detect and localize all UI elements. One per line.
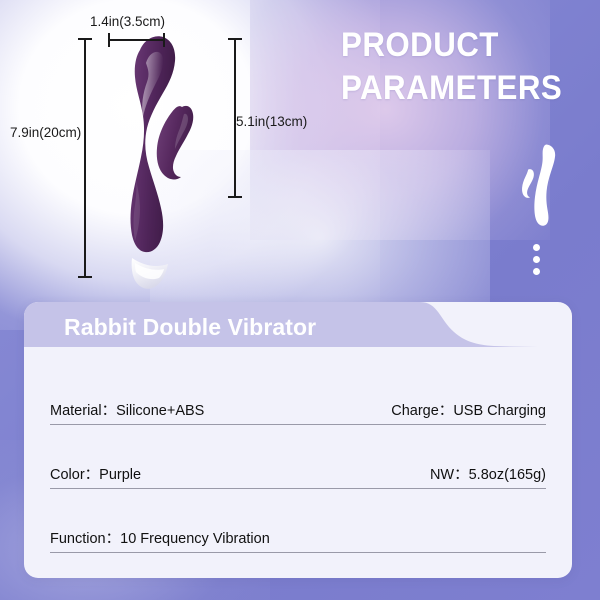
page-title-line-2: PARAMETERS: [341, 67, 571, 110]
specification-card: Rabbit Double Vibrator Material：Silicone…: [24, 302, 572, 578]
spec-row: Material：Silicone+ABS Charge：USB Chargin…: [50, 374, 546, 438]
spec-cell-net-weight: NW：5.8oz(165g): [430, 463, 546, 484]
dot: [533, 268, 540, 275]
dot: [533, 256, 540, 263]
product-image: [96, 30, 226, 300]
spec-row: Function：10 Frequency Vibration: [50, 502, 546, 566]
spec-value: USB Charging: [453, 403, 546, 419]
spec-label: Charge：: [391, 403, 453, 419]
spec-label: Material：: [50, 403, 116, 419]
width-dimension-line: [108, 39, 165, 41]
page-title: PRODUCT PARAMETERS: [341, 24, 571, 110]
spec-label: NW：: [430, 467, 469, 483]
width-dimension-label: 1.4in(3.5cm): [90, 14, 165, 29]
card-title: Rabbit Double Vibrator: [64, 314, 316, 341]
product-silhouette-icon: [516, 142, 562, 226]
specification-rows: Material：Silicone+ABS Charge：USB Chargin…: [50, 374, 546, 566]
spec-label: Color：: [50, 467, 99, 483]
total-length-dimension-line: [84, 38, 86, 278]
product-parameters-infographic: PRODUCT PARAMETERS: [0, 0, 600, 600]
dot: [533, 244, 540, 251]
spec-value: Purple: [99, 467, 141, 483]
spec-cell-material: Material：Silicone+ABS: [50, 399, 204, 420]
spec-value: Silicone+ABS: [116, 403, 204, 419]
ellipsis-dots: [529, 244, 543, 275]
insertable-length-dimension-line: [234, 38, 236, 198]
spec-cell-color: Color：Purple: [50, 463, 141, 484]
spec-value: 10 Frequency Vibration: [120, 531, 270, 547]
page-title-line-1: PRODUCT: [341, 24, 571, 67]
total-length-dimension-label: 7.9in(20cm): [10, 125, 81, 140]
insertable-length-dimension-label: 5.1in(13cm): [236, 114, 307, 129]
spec-row-divider: [50, 488, 546, 489]
spec-cell-charge: Charge：USB Charging: [391, 399, 546, 420]
spec-row-divider: [50, 552, 546, 553]
spec-cell-function: Function：10 Frequency Vibration: [50, 527, 270, 548]
spec-value: 5.8oz(165g): [469, 467, 546, 483]
spec-row-divider: [50, 424, 546, 425]
spec-label: Function：: [50, 531, 120, 547]
spec-row: Color：Purple NW：5.8oz(165g): [50, 438, 546, 502]
